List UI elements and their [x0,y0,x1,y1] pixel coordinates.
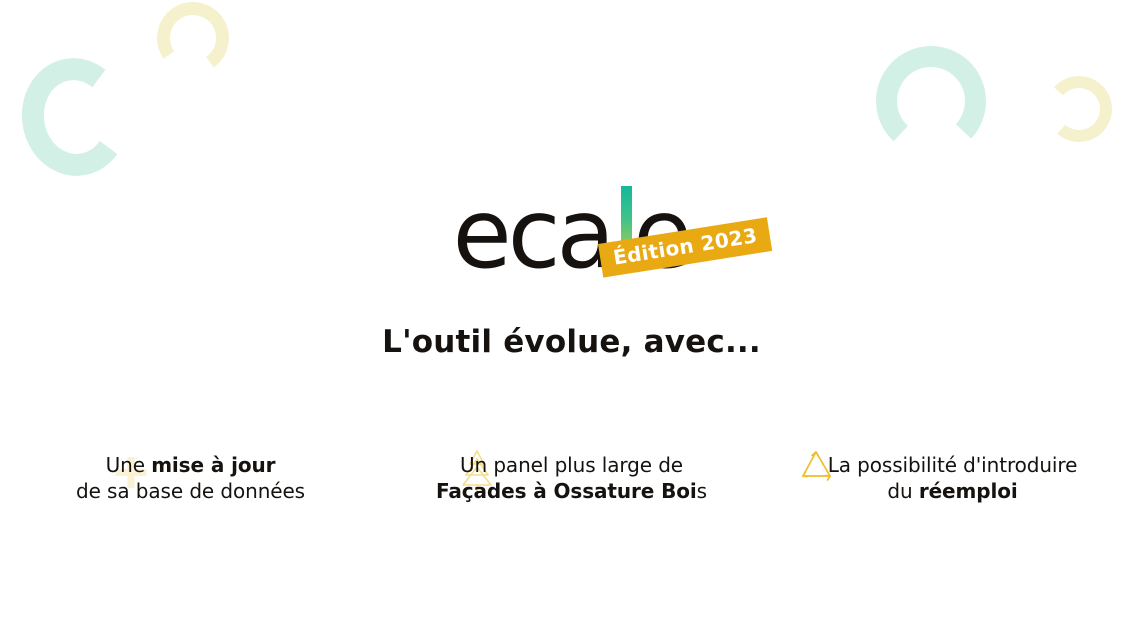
feature-2-line2-suffix: s [697,479,707,503]
features-row: Une mise à jour de sa base de données Un… [0,452,1143,505]
feature-2-line2-strong: Façades à Ossature Boi [436,479,697,503]
feature-3-line1-prefix: La possibilité d'introduire [828,453,1078,477]
feature-item-reuse: La possibilité d'introduire du réemploi [762,452,1143,505]
logo-block: ecae Édition 2023 [0,186,1143,282]
feature-3-line2-prefix: du [887,479,918,503]
feature-1-line1-strong: mise à jour [151,453,275,477]
slide-canvas: ecae Édition 2023 L'outil évolue, avec..… [0,0,1143,643]
feature-2-line1-prefix: Un panel plus large de [460,453,683,477]
feature-1-line2-prefix: de sa base de données [76,479,305,503]
arc-top-right-cream-icon [1044,74,1114,144]
arc-top-left-cream-icon [151,0,234,80]
arc-top-right-teal-icon [874,44,988,158]
feature-item-database-update: Une mise à jour de sa base de données [0,452,381,505]
feature-3-line2-strong: réemploi [919,479,1018,503]
feature-text-reuse: La possibilité d'introduire du réemploi [780,452,1125,505]
page-title: L'outil évolue, avec... [0,324,1143,360]
feature-1-line1-prefix: Une [106,453,152,477]
logo: ecae Édition 2023 [453,186,691,282]
logo-word-before-bar: eca [453,178,612,290]
arc-top-left-teal-icon [14,51,135,183]
feature-item-wood-facades: Un panel plus large de Façades à Ossatur… [381,452,762,505]
feature-text-database-update: Une mise à jour de sa base de données [18,452,363,505]
feature-text-wood-facades: Un panel plus large de Façades à Ossatur… [399,452,744,505]
